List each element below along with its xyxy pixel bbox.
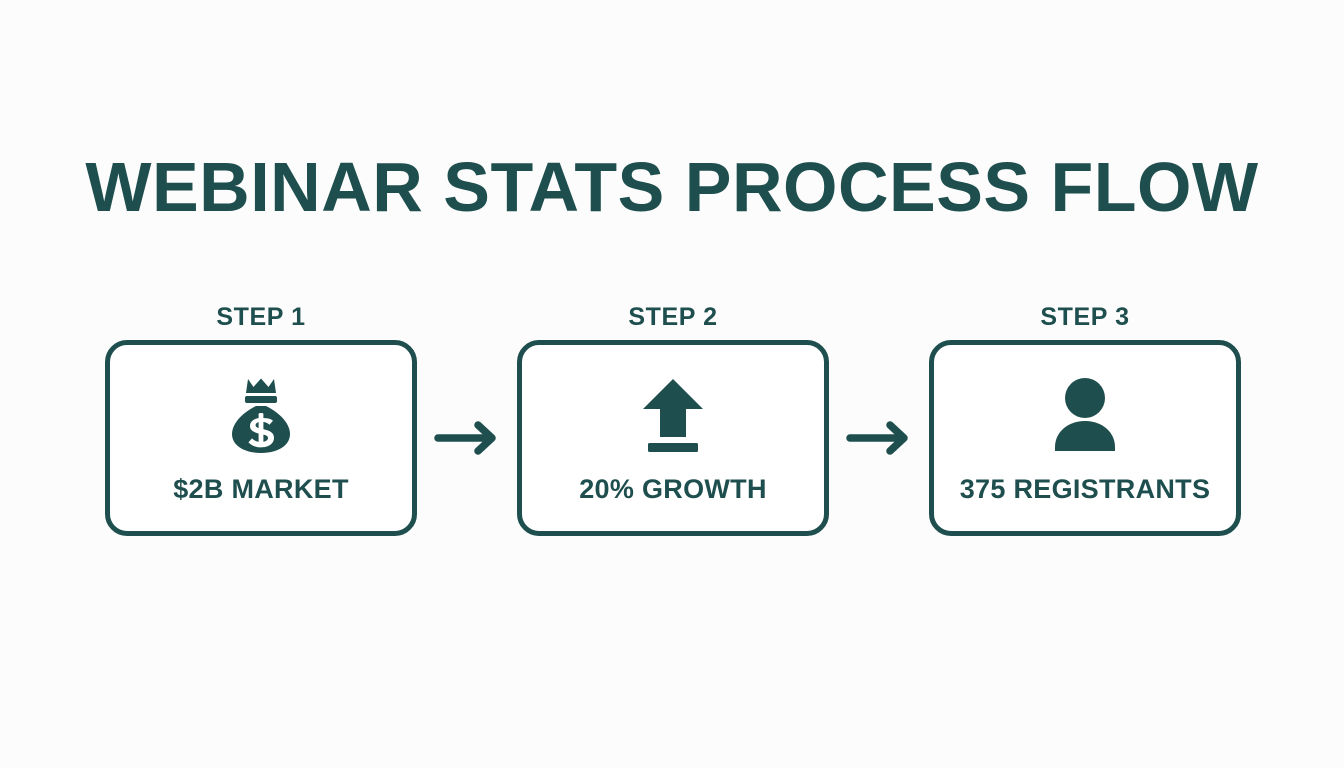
step-3-card[interactable]: 375 REGISTRANTS (929, 340, 1241, 536)
up-arrow-growth-icon (637, 373, 709, 457)
person-icon (1048, 373, 1122, 457)
page-title: WEBINAR STATS PROCESS FLOW (0, 145, 1344, 229)
step-2-label: STEP 2 (628, 302, 717, 332)
process-step-2[interactable]: STEP 2 20% GROWTH (517, 302, 829, 536)
step-1-card[interactable]: $2B MARKET (105, 340, 417, 536)
slide-canvas: WEBINAR STATS PROCESS FLOW STEP 1 (0, 0, 1344, 768)
step-1-label: STEP 1 (216, 302, 305, 332)
step-1-value: $2B MARKET (173, 473, 349, 505)
step-2-value: 20% GROWTH (579, 473, 767, 505)
process-flow: STEP 1 (105, 302, 1231, 542)
connector-2 (829, 340, 929, 536)
step-2-card[interactable]: 20% GROWTH (517, 340, 829, 536)
arrow-right-icon (846, 421, 912, 455)
money-bag-icon (226, 373, 296, 457)
step-3-label: STEP 3 (1040, 302, 1129, 332)
step-3-value: 375 REGISTRANTS (960, 473, 1211, 505)
connector-1 (417, 340, 517, 536)
process-step-3[interactable]: STEP 3 375 REGISTRANTS (929, 302, 1241, 536)
arrow-right-icon (434, 421, 500, 455)
process-step-1[interactable]: STEP 1 (105, 302, 417, 536)
